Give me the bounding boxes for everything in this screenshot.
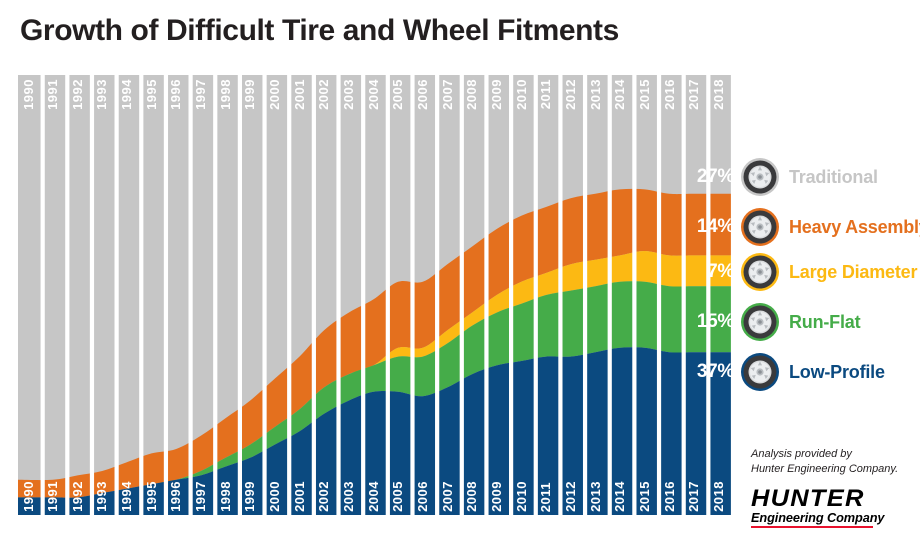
year-label-top-1994: 1994 bbox=[120, 79, 133, 110]
year-label-bottom-2012: 2012 bbox=[564, 481, 577, 512]
year-label-top-2010: 2010 bbox=[515, 79, 528, 110]
column-separator bbox=[682, 75, 686, 515]
year-label-top-2000: 2000 bbox=[268, 79, 281, 110]
tire-wheel-icon bbox=[740, 302, 780, 342]
legend-percent: 15% bbox=[688, 311, 734, 333]
year-label-bottom-1998: 1998 bbox=[219, 481, 232, 512]
column-separator bbox=[583, 75, 587, 515]
year-label-top-1999: 1999 bbox=[243, 79, 256, 110]
column-separator bbox=[139, 75, 143, 515]
year-label-bottom-2017: 2017 bbox=[687, 481, 700, 512]
year-label-bottom-2005: 2005 bbox=[391, 481, 404, 512]
year-label-bottom-2015: 2015 bbox=[638, 481, 651, 512]
legend-percent: 7% bbox=[688, 261, 734, 283]
legend-item-traditional: 27%Traditional bbox=[688, 158, 878, 196]
column-separator bbox=[41, 75, 45, 515]
legend-item-large-diameter: 7%Large Diameter bbox=[688, 253, 917, 291]
year-label-bottom-2016: 2016 bbox=[663, 481, 676, 512]
column-separator bbox=[386, 75, 390, 515]
year-label-bottom-2000: 2000 bbox=[268, 481, 281, 512]
year-label-bottom-1995: 1995 bbox=[145, 481, 158, 512]
column-separator bbox=[632, 75, 636, 515]
legend-label: Run-Flat bbox=[789, 312, 860, 333]
year-label-bottom-2009: 2009 bbox=[490, 481, 503, 512]
column-separator bbox=[115, 75, 119, 515]
column-separator bbox=[435, 75, 439, 515]
legend-item-low-profile: 37%Low-Profile bbox=[688, 353, 885, 391]
year-label-top-2013: 2013 bbox=[589, 79, 602, 110]
column-separator bbox=[90, 75, 94, 515]
column-separator bbox=[238, 75, 242, 515]
year-label-top-1997: 1997 bbox=[194, 79, 207, 110]
logo-tagline: Engineering Company bbox=[751, 512, 904, 525]
column-separator bbox=[410, 75, 414, 515]
year-label-top-2011: 2011 bbox=[539, 79, 552, 109]
tire-wheel-icon bbox=[740, 157, 780, 197]
column-separator bbox=[361, 75, 365, 515]
chart-column-separators bbox=[18, 75, 733, 515]
page-title: Growth of Difficult Tire and Wheel Fitme… bbox=[20, 14, 619, 48]
year-label-bottom-2013: 2013 bbox=[589, 481, 602, 512]
year-label-bottom-1992: 1992 bbox=[71, 481, 84, 512]
year-label-top-2009: 2009 bbox=[490, 79, 503, 110]
legend-label: Heavy Assembly bbox=[789, 217, 920, 238]
year-label-top-2016: 2016 bbox=[663, 79, 676, 110]
year-label-top-1993: 1993 bbox=[95, 79, 108, 110]
year-label-bottom-2010: 2010 bbox=[515, 481, 528, 512]
stacked-area-chart: 1990199119921993199419951996199719981999… bbox=[18, 75, 733, 515]
year-label-bottom-1996: 1996 bbox=[169, 481, 182, 512]
legend-label: Traditional bbox=[789, 167, 878, 188]
year-label-top-1995: 1995 bbox=[145, 79, 158, 110]
year-label-bottom-2003: 2003 bbox=[342, 481, 355, 512]
year-label-bottom-1997: 1997 bbox=[194, 481, 207, 512]
year-label-bottom-1990: 1990 bbox=[22, 481, 35, 512]
legend-percent: 14% bbox=[688, 216, 734, 238]
column-separator bbox=[509, 75, 513, 515]
credit-text: Analysis provided by Hunter Engineering … bbox=[751, 447, 898, 477]
column-separator bbox=[534, 75, 538, 515]
column-separator bbox=[460, 75, 464, 515]
year-label-top-1990: 1990 bbox=[22, 79, 35, 110]
year-label-top-2001: 2001 bbox=[293, 79, 306, 110]
year-label-bottom-2011: 2011 bbox=[539, 482, 552, 512]
infographic-root: Growth of Difficult Tire and Wheel Fitme… bbox=[0, 0, 920, 540]
year-label-bottom-1994: 1994 bbox=[120, 481, 133, 512]
column-separator bbox=[608, 75, 612, 515]
year-label-top-1996: 1996 bbox=[169, 79, 182, 110]
logo-wordmark: HUNTER bbox=[751, 487, 910, 511]
year-label-top-1991: 1991 bbox=[46, 79, 59, 110]
year-label-top-2006: 2006 bbox=[416, 79, 429, 110]
legend-percent: 37% bbox=[688, 361, 734, 383]
legend-item-heavy-assembly: 14%Heavy Assembly bbox=[688, 208, 920, 246]
year-label-bottom-2004: 2004 bbox=[367, 481, 380, 512]
year-label-top-2003: 2003 bbox=[342, 79, 355, 110]
credit-line-2: Hunter Engineering Company. bbox=[751, 462, 898, 477]
year-label-bottom-1991: 1991 bbox=[46, 481, 59, 512]
column-separator bbox=[287, 75, 291, 515]
year-label-bottom-2018: 2018 bbox=[712, 481, 725, 512]
tire-wheel-icon bbox=[740, 207, 780, 247]
legend-item-run-flat: 15%Run-Flat bbox=[688, 303, 860, 341]
column-separator bbox=[262, 75, 266, 515]
column-separator bbox=[657, 75, 661, 515]
hunter-logo: HUNTER Engineering Company bbox=[751, 487, 901, 528]
logo-rule bbox=[751, 526, 873, 529]
column-separator bbox=[484, 75, 488, 515]
year-label-top-2017: 2017 bbox=[687, 79, 700, 110]
year-label-top-2002: 2002 bbox=[317, 79, 330, 110]
legend-percent: 27% bbox=[688, 166, 734, 188]
year-label-top-2014: 2014 bbox=[613, 79, 626, 110]
year-label-top-2008: 2008 bbox=[465, 79, 478, 110]
year-label-bottom-2002: 2002 bbox=[317, 481, 330, 512]
year-label-top-1998: 1998 bbox=[219, 79, 232, 110]
column-separator bbox=[164, 75, 168, 515]
column-separator bbox=[731, 75, 733, 515]
legend-label: Large Diameter bbox=[789, 262, 917, 283]
column-separator bbox=[312, 75, 316, 515]
year-label-bottom-1993: 1993 bbox=[95, 481, 108, 512]
year-label-top-2007: 2007 bbox=[441, 79, 454, 110]
year-label-top-2004: 2004 bbox=[367, 79, 380, 110]
column-separator bbox=[65, 75, 69, 515]
column-separator bbox=[213, 75, 217, 515]
credit-line-1: Analysis provided by bbox=[751, 447, 898, 462]
year-label-top-2018: 2018 bbox=[712, 79, 725, 110]
year-label-bottom-2014: 2014 bbox=[613, 481, 626, 512]
year-label-bottom-2006: 2006 bbox=[416, 481, 429, 512]
year-label-bottom-2008: 2008 bbox=[465, 481, 478, 512]
tire-wheel-icon bbox=[740, 352, 780, 392]
tire-wheel-icon bbox=[740, 252, 780, 292]
year-label-bottom-1999: 1999 bbox=[243, 481, 256, 512]
year-label-bottom-2007: 2007 bbox=[441, 481, 454, 512]
column-separator bbox=[706, 75, 710, 515]
column-separator bbox=[558, 75, 562, 515]
year-label-top-2005: 2005 bbox=[391, 79, 404, 110]
column-separator bbox=[188, 75, 192, 515]
column-separator bbox=[336, 75, 340, 515]
year-label-bottom-2001: 2001 bbox=[293, 481, 306, 512]
year-label-top-2015: 2015 bbox=[638, 79, 651, 110]
legend-label: Low-Profile bbox=[789, 362, 885, 383]
year-label-top-1992: 1992 bbox=[71, 79, 84, 110]
year-label-top-2012: 2012 bbox=[564, 79, 577, 110]
